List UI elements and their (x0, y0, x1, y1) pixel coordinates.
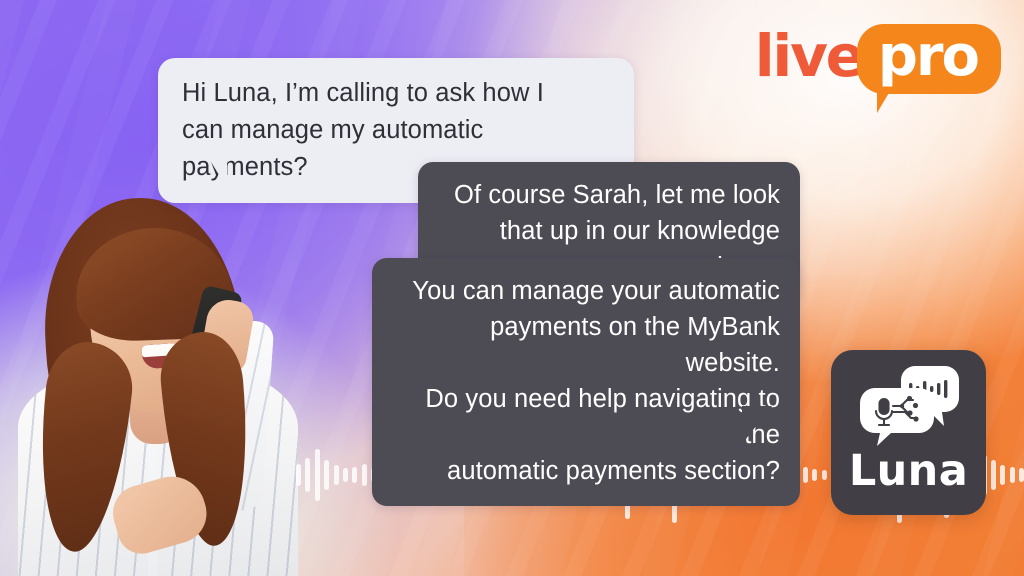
waveform-bar (991, 460, 996, 490)
waveform-bar (822, 470, 827, 480)
waveform-bar (803, 467, 808, 483)
logo-pro-text: pro (878, 29, 978, 85)
waveform-bar (334, 465, 339, 485)
waveform-bar (362, 464, 367, 486)
waveform-bar (315, 449, 320, 501)
waveform-bar (324, 460, 329, 490)
voice-ai-chat-bubbles-icon (857, 362, 961, 446)
waveform-bar (343, 468, 348, 482)
waveform-bar (1010, 467, 1015, 483)
promo-banner: Hi Luna, I’m calling to ask how I can ma… (0, 0, 1024, 576)
chat-bubble-luna-2-text: You can manage your automatic payments o… (392, 273, 780, 489)
waveform-bar (296, 464, 301, 486)
waveform-bar (305, 458, 310, 492)
waveform-bar (352, 467, 357, 483)
chat-bubble-luna-2-tail (742, 406, 782, 444)
chat-bubble-customer-1-tail (188, 144, 227, 188)
hero-person-photo (18, 192, 298, 576)
waveform-bar (812, 469, 817, 481)
logo-pro-bubble-icon: pro (857, 24, 1001, 94)
waveform-bar (1000, 465, 1005, 485)
logo-live-text: live (755, 27, 863, 85)
waveform-bar (1019, 468, 1024, 482)
luna-badge-label: Luna (849, 450, 968, 493)
luna-assistant-badge[interactable]: Luna (831, 350, 986, 515)
logo-bubble-tail (877, 91, 899, 113)
chat-bubble-luna-2: You can manage your automatic payments o… (372, 258, 800, 506)
livepro-logo[interactable]: live pro (755, 28, 1001, 90)
